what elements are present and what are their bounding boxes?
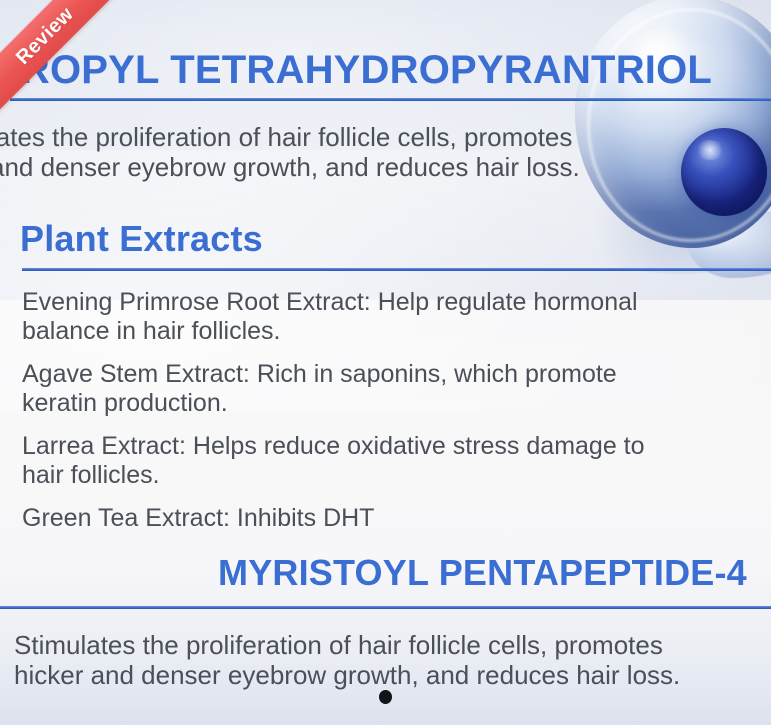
list-item-line1: Agave Stem Extract: Rich in saponins, wh…	[22, 360, 771, 389]
list-item: Evening Primrose Root Extract: Help regu…	[22, 288, 771, 346]
list-item-line1: Larrea Extract: Helps reduce oxidative s…	[22, 432, 771, 461]
description-myristoyl: Stimulates the proliferation of hair fol…	[14, 630, 680, 690]
slide-content: PROPYL TETRAHYDROPYRANTRIOL lates the pr…	[0, 0, 771, 725]
plant-extracts-list: Evening Primrose Root Extract: Help regu…	[22, 288, 771, 547]
list-item: Green Tea Extract: Inhibits DHT	[22, 504, 771, 533]
description-propyl-line2: and denser eyebrow growth, and reduces h…	[0, 152, 580, 182]
divider-plant-extracts	[22, 268, 771, 271]
list-item-line2: keratin production.	[22, 389, 771, 418]
slide-canvas: Review PROPYL TETRAHYDROPYRANTRIOL lates…	[0, 0, 771, 725]
divider-myristoyl	[0, 606, 771, 609]
heading-myristoyl-pentapeptide-4: MYRISTOYL PENTAPEPTIDE-4	[218, 552, 747, 594]
description-propyl: lates the proliferation of hair follicle…	[0, 122, 580, 182]
list-item: Agave Stem Extract: Rich in saponins, wh…	[22, 360, 771, 418]
list-item-line1: Evening Primrose Root Extract: Help regu…	[22, 288, 771, 317]
description-myristoyl-line2: hicker and denser eyebrow growth, and re…	[14, 660, 680, 690]
list-item-line1: Green Tea Extract: Inhibits DHT	[22, 504, 771, 533]
divider-propyl	[10, 98, 771, 101]
list-item: Larrea Extract: Helps reduce oxidative s…	[22, 432, 771, 490]
heading-plant-extracts: Plant Extracts	[20, 218, 263, 260]
page-indicator-dot[interactable]	[379, 690, 392, 704]
description-myristoyl-line1: Stimulates the proliferation of hair fol…	[14, 630, 680, 660]
heading-propyl-tetrahydropyrantriol: PROPYL TETRAHYDROPYRANTRIOL	[0, 48, 712, 93]
list-item-line2: balance in hair follicles.	[22, 317, 771, 346]
description-propyl-line1: lates the proliferation of hair follicle…	[0, 122, 580, 152]
list-item-line2: hair follicles.	[22, 461, 771, 490]
